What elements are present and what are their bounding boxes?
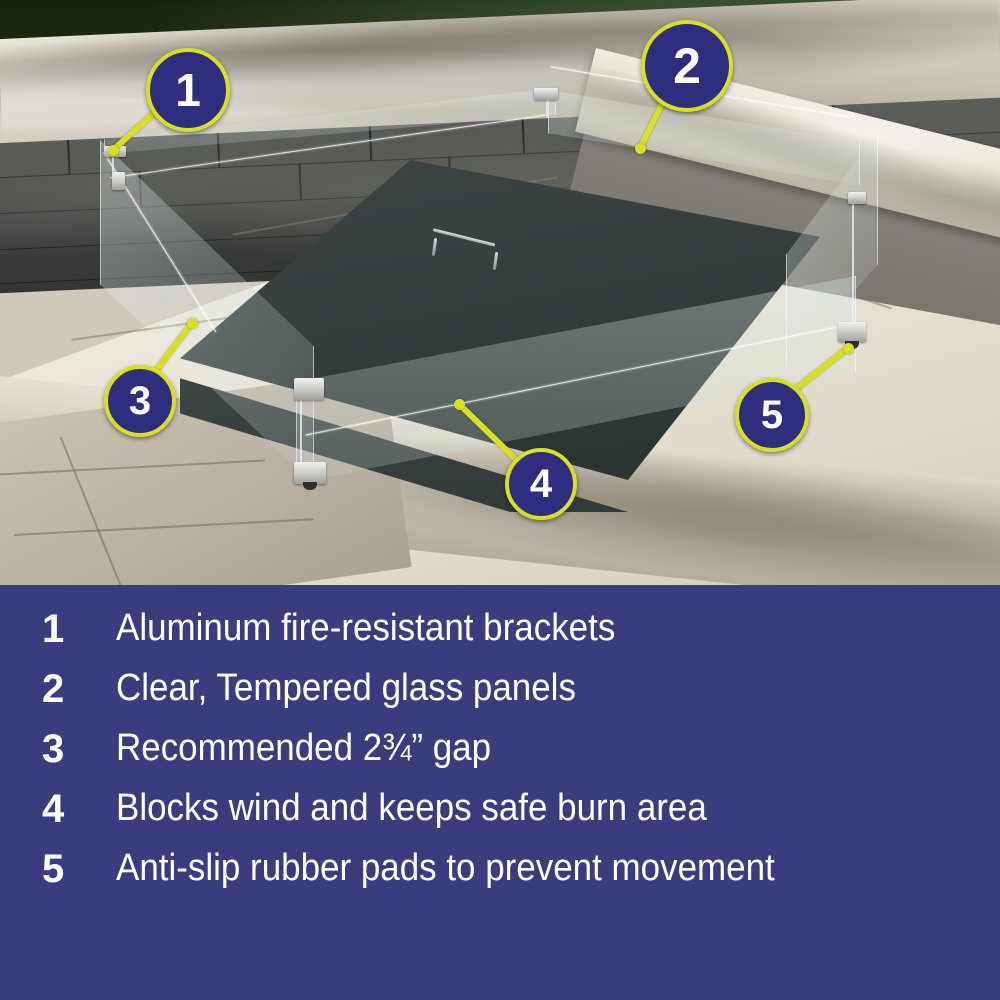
- callout-leader-dot-3: [187, 318, 198, 329]
- callout-badge-number: 1: [175, 67, 201, 113]
- product-photo: 12345: [0, 0, 1000, 585]
- callout-badge-number: 3: [129, 381, 151, 421]
- legend-item-label: Aluminum fire-resistant brackets: [116, 609, 615, 649]
- legend-item-label: Recommended 2¾” gap: [116, 729, 491, 769]
- legend-list: 1Aluminum fire-resistant brackets2Clear,…: [0, 585, 1000, 1000]
- legend-item-5: 5Anti-slip rubber pads to prevent moveme…: [42, 843, 976, 895]
- callout-leader-dot-5: [843, 343, 854, 354]
- callout-badge-1[interactable]: 1: [146, 48, 230, 132]
- product-feature-infographic: 12345 1Aluminum fire-resistant brackets2…: [0, 0, 1000, 1000]
- legend-item-number: 3: [42, 729, 116, 769]
- callout-leader-dot-2: [635, 143, 646, 154]
- legend-panel: 1Aluminum fire-resistant brackets2Clear,…: [0, 585, 1000, 1000]
- callout-badge-5[interactable]: 5: [735, 378, 809, 452]
- legend-item-2: 2Clear, Tempered glass panels: [42, 663, 976, 715]
- legend-item-number: 2: [42, 669, 116, 709]
- callout-leader-dot-1: [108, 145, 119, 156]
- legend-item-label: Clear, Tempered glass panels: [116, 669, 576, 709]
- legend-item-4: 4Blocks wind and keeps safe burn area: [42, 783, 976, 835]
- legend-item-label: Anti-slip rubber pads to prevent movemen…: [116, 849, 775, 889]
- callout-badge-number: 2: [673, 41, 701, 91]
- legend-item-3: 3Recommended 2¾” gap: [42, 723, 976, 775]
- callout-badge-number: 4: [530, 464, 552, 504]
- legend-item-1: 1Aluminum fire-resistant brackets: [42, 603, 976, 655]
- legend-item-number: 4: [42, 789, 116, 829]
- legend-item-number: 5: [42, 849, 116, 889]
- legend-item-label: Blocks wind and keeps safe burn area: [116, 789, 707, 829]
- callout-badge-3[interactable]: 3: [104, 365, 176, 437]
- callout-badge-number: 5: [761, 395, 783, 435]
- callout-badge-2[interactable]: 2: [641, 20, 733, 112]
- legend-item-number: 1: [42, 609, 116, 649]
- callout-leader-dot-4: [454, 399, 465, 410]
- callout-layer: 12345: [0, 0, 1000, 585]
- callout-badge-4[interactable]: 4: [505, 448, 577, 520]
